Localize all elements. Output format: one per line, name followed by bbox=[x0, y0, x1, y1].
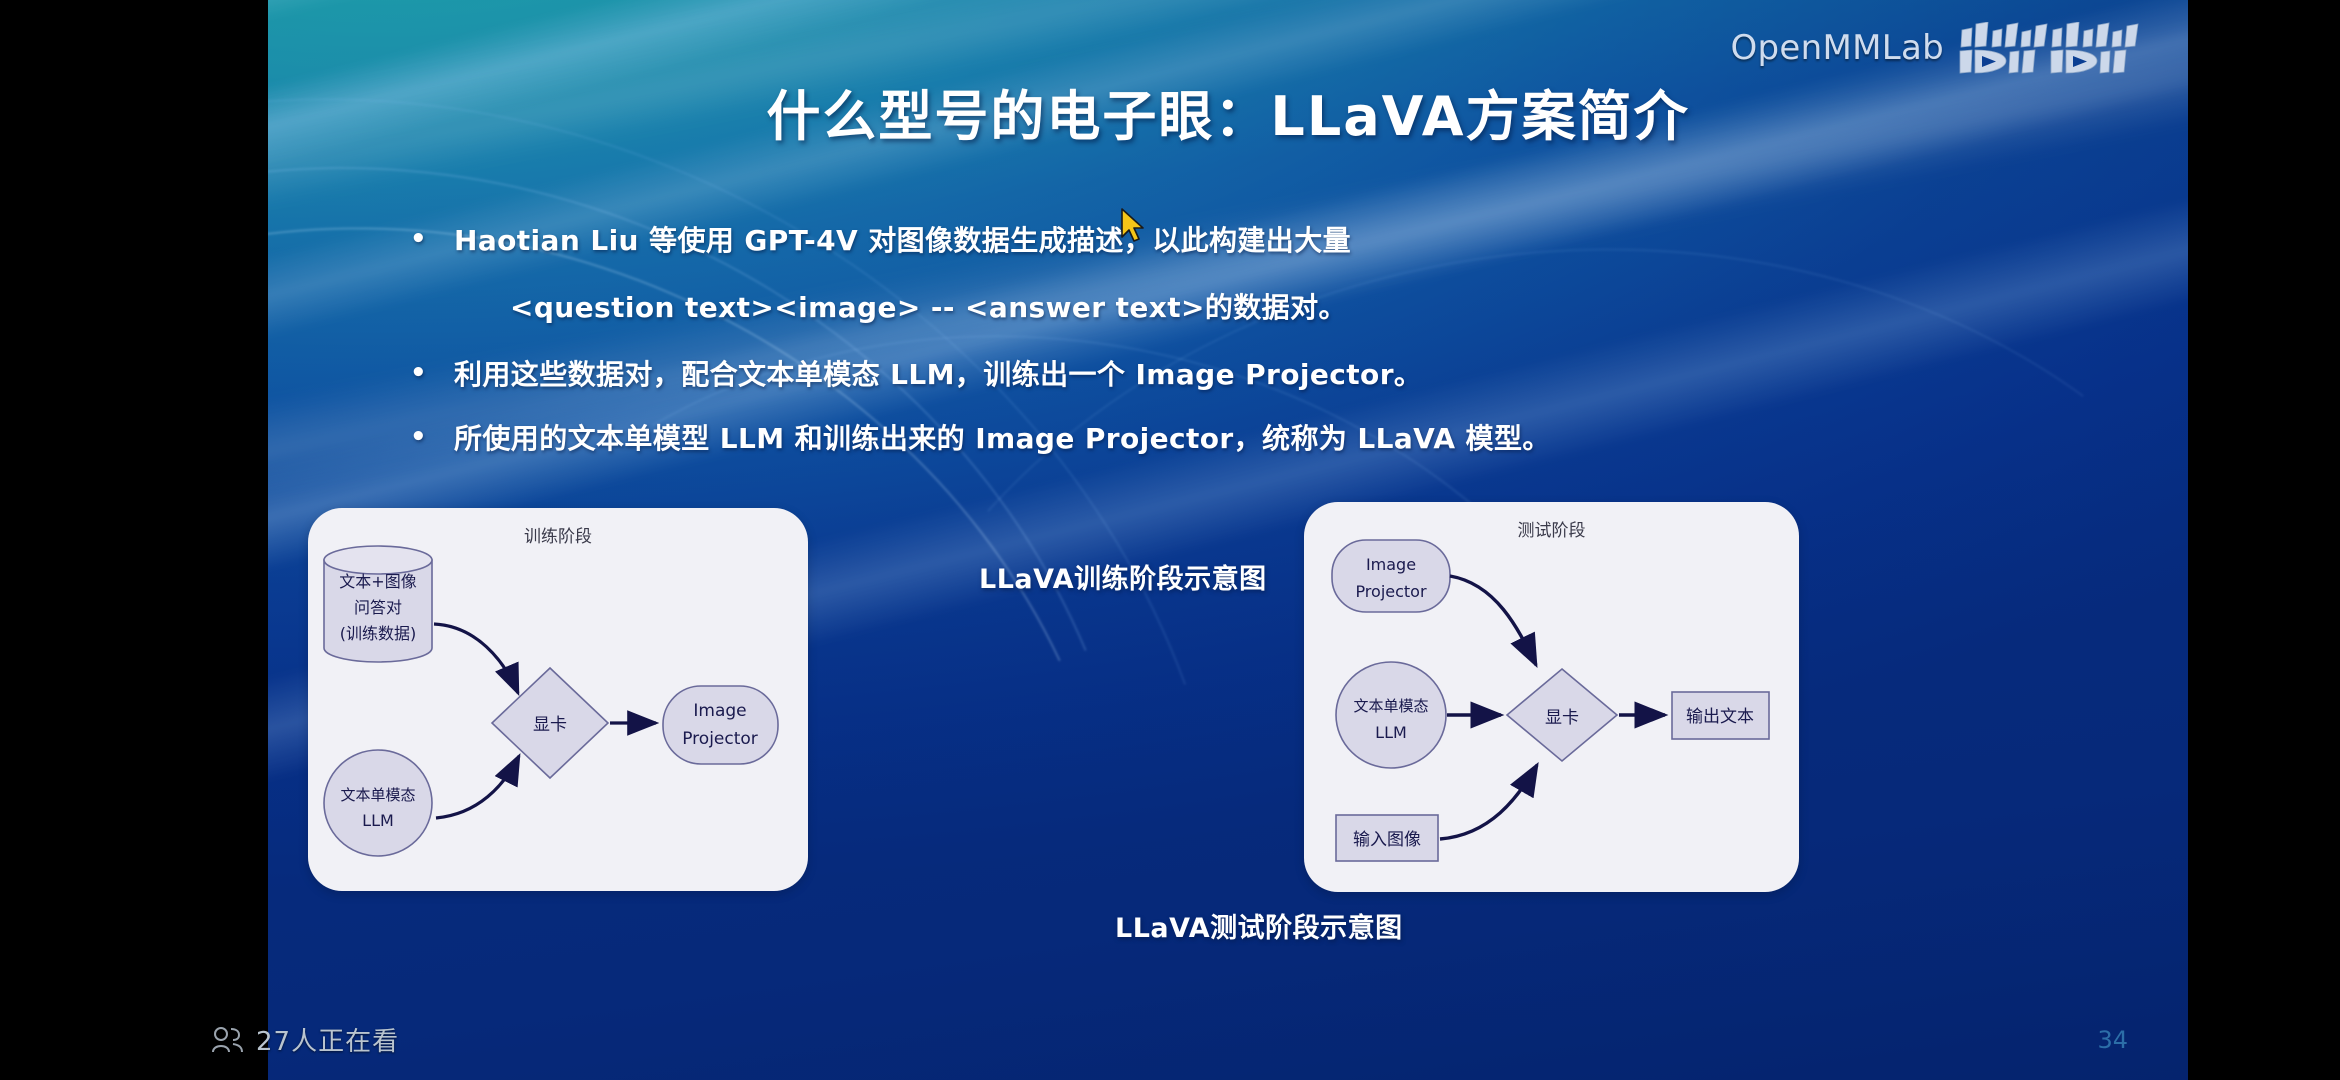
node-label-line: Image bbox=[693, 701, 746, 721]
node-label-line: Projector bbox=[682, 729, 758, 749]
node-image-projector: Image Projector bbox=[663, 686, 778, 764]
edge-data-to-gpu bbox=[434, 624, 518, 693]
edge-llm-to-gpu bbox=[436, 756, 519, 818]
bullet-text: 利用这些数据对，配合文本单模态 LLM，训练出一个 Image Projecto… bbox=[454, 356, 1422, 394]
node-output-text-rect: 输出文本 bbox=[1672, 692, 1769, 739]
node-label-line: LLM bbox=[362, 811, 394, 830]
node-label-line: 文本+图像 bbox=[339, 572, 416, 591]
bullet-item: • Haotian Liu 等使用 GPT-4V 对图像数据生成描述，以此构建出… bbox=[410, 222, 2110, 260]
node-label-line: LLM bbox=[1375, 723, 1407, 742]
node-gpu-diamond: 显卡 bbox=[492, 668, 608, 778]
training-figure-caption: LLaVA训练阶段示意图 bbox=[979, 557, 1267, 596]
bullet-item: • 利用这些数据对，配合文本单模态 LLM，训练出一个 Image Projec… bbox=[410, 356, 2110, 394]
node-image-projector: Image Projector bbox=[1332, 540, 1450, 612]
viewer-count-overlay: 27人正在看 bbox=[210, 1021, 399, 1058]
bullet-marker-icon: • bbox=[410, 420, 454, 455]
node-label-line: 文本单模态 bbox=[340, 786, 415, 804]
node-text-llm-circle: 文本单模态 LLM bbox=[1336, 662, 1446, 768]
bullet-marker-icon: • bbox=[410, 222, 454, 257]
bullet-continuation-text: <question text><image> -- <answer text>的… bbox=[510, 286, 2110, 326]
testing-phase-diagram-svg: Image Projector 文本单模态 LLM 输入图像 显卡 bbox=[1304, 502, 1799, 892]
presentation-slide: OpenMMLab bbox=[268, 0, 2188, 1080]
node-label-line: (训练数据) bbox=[340, 624, 417, 643]
bullet-list: • Haotian Liu 等使用 GPT-4V 对图像数据生成描述，以此构建出… bbox=[410, 222, 2110, 483]
testing-phase-diagram-panel: 测试阶段 Image Projector 文本单模态 LLM bbox=[1304, 502, 1799, 892]
slide-title: 什么型号的电子眼：LLaVA方案简介 bbox=[268, 72, 2188, 151]
bilibili-logo bbox=[1958, 22, 2148, 74]
edge-input-image-to-gpu bbox=[1440, 765, 1537, 839]
node-label-line: Image bbox=[1366, 555, 1416, 574]
node-input-image-rect: 输入图像 bbox=[1336, 815, 1438, 861]
node-label-line: 输入图像 bbox=[1353, 830, 1421, 850]
testing-panel-caption: 测试阶段 bbox=[1304, 516, 1799, 541]
testing-figure-caption: LLaVA测试阶段示意图 bbox=[1115, 906, 1403, 945]
node-label-line: Projector bbox=[1355, 582, 1427, 601]
node-label-line: 文本单模态 bbox=[1353, 697, 1428, 715]
people-icon bbox=[210, 1026, 244, 1054]
node-label-line: 输出文本 bbox=[1686, 707, 1754, 727]
openmmlab-logo: OpenMMLab bbox=[1730, 28, 1944, 68]
viewer-count-text: 27人正在看 bbox=[256, 1021, 399, 1058]
edge-projector-to-gpu bbox=[1450, 576, 1536, 665]
node-label-line: 显卡 bbox=[1545, 708, 1579, 728]
node-gpu-diamond: 显卡 bbox=[1507, 669, 1617, 761]
bullet-marker-icon: • bbox=[410, 356, 454, 391]
node-training-data-cylinder: 文本+图像 问答对 (训练数据) bbox=[324, 546, 432, 662]
bullet-item: • 所使用的文本单模型 LLM 和训练出来的 Image Projector，统… bbox=[410, 420, 2110, 458]
logo-row: OpenMMLab bbox=[1730, 22, 2148, 74]
node-label-line: 显卡 bbox=[533, 715, 567, 735]
node-label-line: 问答对 bbox=[354, 598, 402, 617]
node-text-llm-circle: 文本单模态 LLM bbox=[324, 750, 432, 856]
training-phase-diagram-svg: 文本+图像 问答对 (训练数据) 文本单模态 LLM 显卡 bbox=[308, 508, 808, 891]
bullet-text: Haotian Liu 等使用 GPT-4V 对图像数据生成描述，以此构建出大量 bbox=[454, 222, 1351, 260]
training-phase-diagram-panel: 训练阶段 文本+图像 问答对 (训练数据) bbox=[308, 508, 808, 891]
bullet-text: 所使用的文本单模型 LLM 和训练出来的 Image Projector，统称为… bbox=[454, 420, 1551, 458]
screen-root: OpenMMLab bbox=[0, 0, 2340, 1080]
slide-page-number: 34 bbox=[2097, 1026, 2128, 1054]
training-panel-caption: 训练阶段 bbox=[308, 522, 808, 547]
